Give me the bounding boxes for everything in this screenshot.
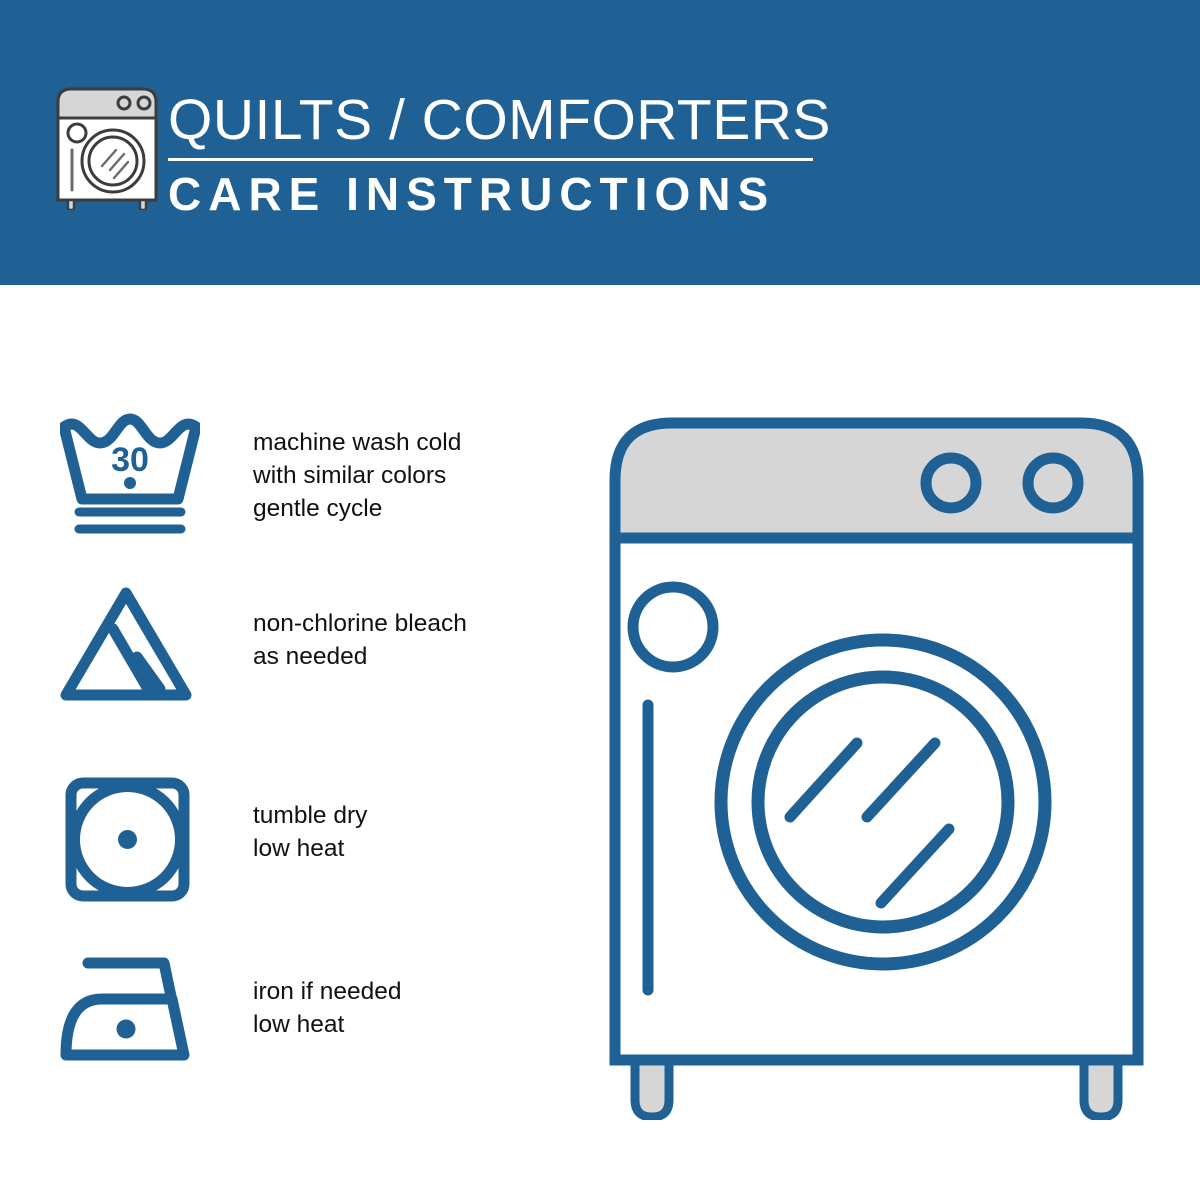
wash-temperature-label: 30 <box>111 441 149 479</box>
care-text-line: iron if needed <box>253 975 518 1008</box>
care-text-line: gentle cycle <box>253 492 518 525</box>
care-row-bleach: non-chlorine bleach as needed <box>0 585 520 735</box>
care-text-tumble-dry: tumble dry low heat <box>253 799 518 865</box>
washing-machine-illustration <box>595 405 1175 1120</box>
iron-icon <box>60 953 200 1078</box>
machine-wash-icon: 30 <box>60 413 200 538</box>
care-text-line: machine wash cold <box>253 426 518 459</box>
page-subtitle: CARE INSTRUCTIONS <box>168 168 828 220</box>
care-text-line: tumble dry <box>253 799 518 832</box>
washing-machine-icon <box>52 82 162 210</box>
care-text-line: low heat <box>253 1008 518 1041</box>
header-title-block: QUILTS / COMFORTERS CARE INSTRUCTIONS <box>168 88 828 220</box>
tumble-dry-icon <box>60 777 200 902</box>
care-text-line: with similar colors <box>253 459 518 492</box>
non-chlorine-bleach-icon <box>60 585 200 710</box>
care-text-line: as needed <box>253 640 518 673</box>
care-text-line: non-chlorine bleach <box>253 607 518 640</box>
care-text-bleach: non-chlorine bleach as needed <box>253 607 518 673</box>
care-row-tumble-dry: tumble dry low heat <box>0 777 520 927</box>
care-text-iron: iron if needed low heat <box>253 975 518 1041</box>
header-band: QUILTS / COMFORTERS CARE INSTRUCTIONS <box>0 0 1200 285</box>
control-panel <box>615 423 1138 538</box>
care-text-line: low heat <box>253 832 518 865</box>
page-title: QUILTS / COMFORTERS <box>168 88 828 152</box>
care-row-machine-wash: 30 machine wash cold with similar colors… <box>0 413 520 563</box>
title-divider <box>168 158 813 161</box>
care-instructions-infographic: QUILTS / COMFORTERS CARE INSTRUCTIONS 30 <box>0 0 1200 1200</box>
care-row-iron: iron if needed low heat <box>0 953 520 1103</box>
care-text-machine-wash: machine wash cold with similar colors ge… <box>253 426 518 525</box>
